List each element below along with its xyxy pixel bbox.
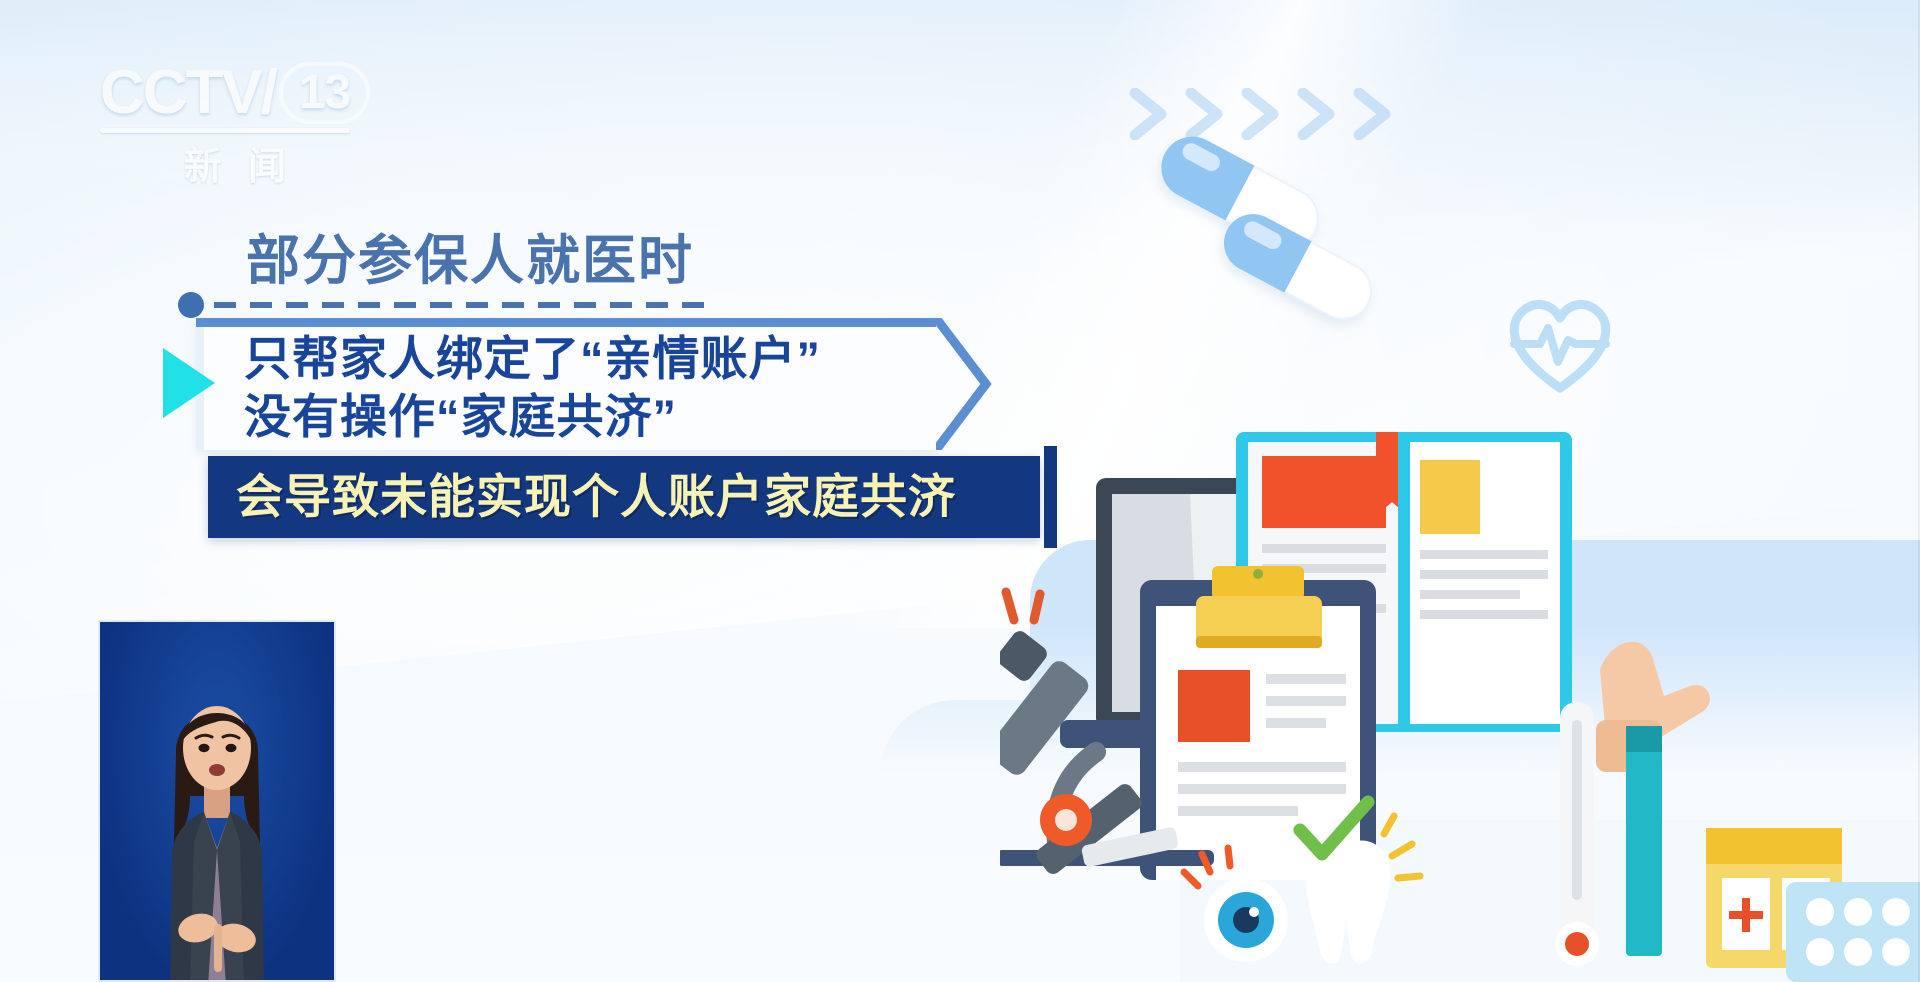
chevron-right-icon [1352, 88, 1394, 140]
cctv-logo-number: 13 [279, 62, 370, 124]
pencil-icon [1626, 726, 1662, 956]
cctv-logo-subtitle: 新闻 [100, 135, 370, 190]
white-banner-line-1: 只帮家人绑定了“亲情账户” [244, 330, 944, 388]
headline-kicker: 部分参保人就医时 [246, 232, 694, 290]
play-triangle-icon [163, 348, 215, 418]
chevron-right-icon [1184, 88, 1226, 140]
headline-divider [178, 292, 710, 318]
white-banner-text: 只帮家人绑定了“亲情账户” 没有操作“家庭共济” [244, 330, 944, 446]
thermometer-icon [1555, 702, 1599, 966]
chevron-right-icon [1296, 88, 1338, 140]
chevron-right-icon [1240, 88, 1282, 140]
sign-language-interpreter [132, 656, 302, 982]
heart-ecg-icon [1500, 288, 1620, 398]
bullet-dot-icon [178, 292, 204, 318]
sign-language-window [98, 620, 336, 982]
cctv-logo-slash: / [261, 62, 275, 124]
cctv-logo-wordmark: CCTV / 13 [100, 62, 370, 124]
dashed-line [214, 302, 710, 308]
pill-tray-icon [1786, 882, 1920, 982]
white-banner-top-rule [196, 318, 936, 327]
dark-banner-text: 会导致未能实现个人账户家庭共济 [236, 463, 1056, 531]
cctv-logo: CCTV / 13 新闻 [100, 62, 370, 172]
cctv-logo-rule [100, 128, 350, 133]
white-banner-line-2: 没有操作“家庭共济” [244, 388, 944, 446]
chevron-right-icon [1128, 88, 1170, 140]
medical-illustration [1000, 420, 1920, 982]
chevron-arrow-row [1128, 88, 1394, 140]
cctv-logo-text: CCTV [100, 62, 261, 124]
broadcast-screen: CCTV / 13 新闻 部分参保人就医时 [0, 0, 1920, 982]
